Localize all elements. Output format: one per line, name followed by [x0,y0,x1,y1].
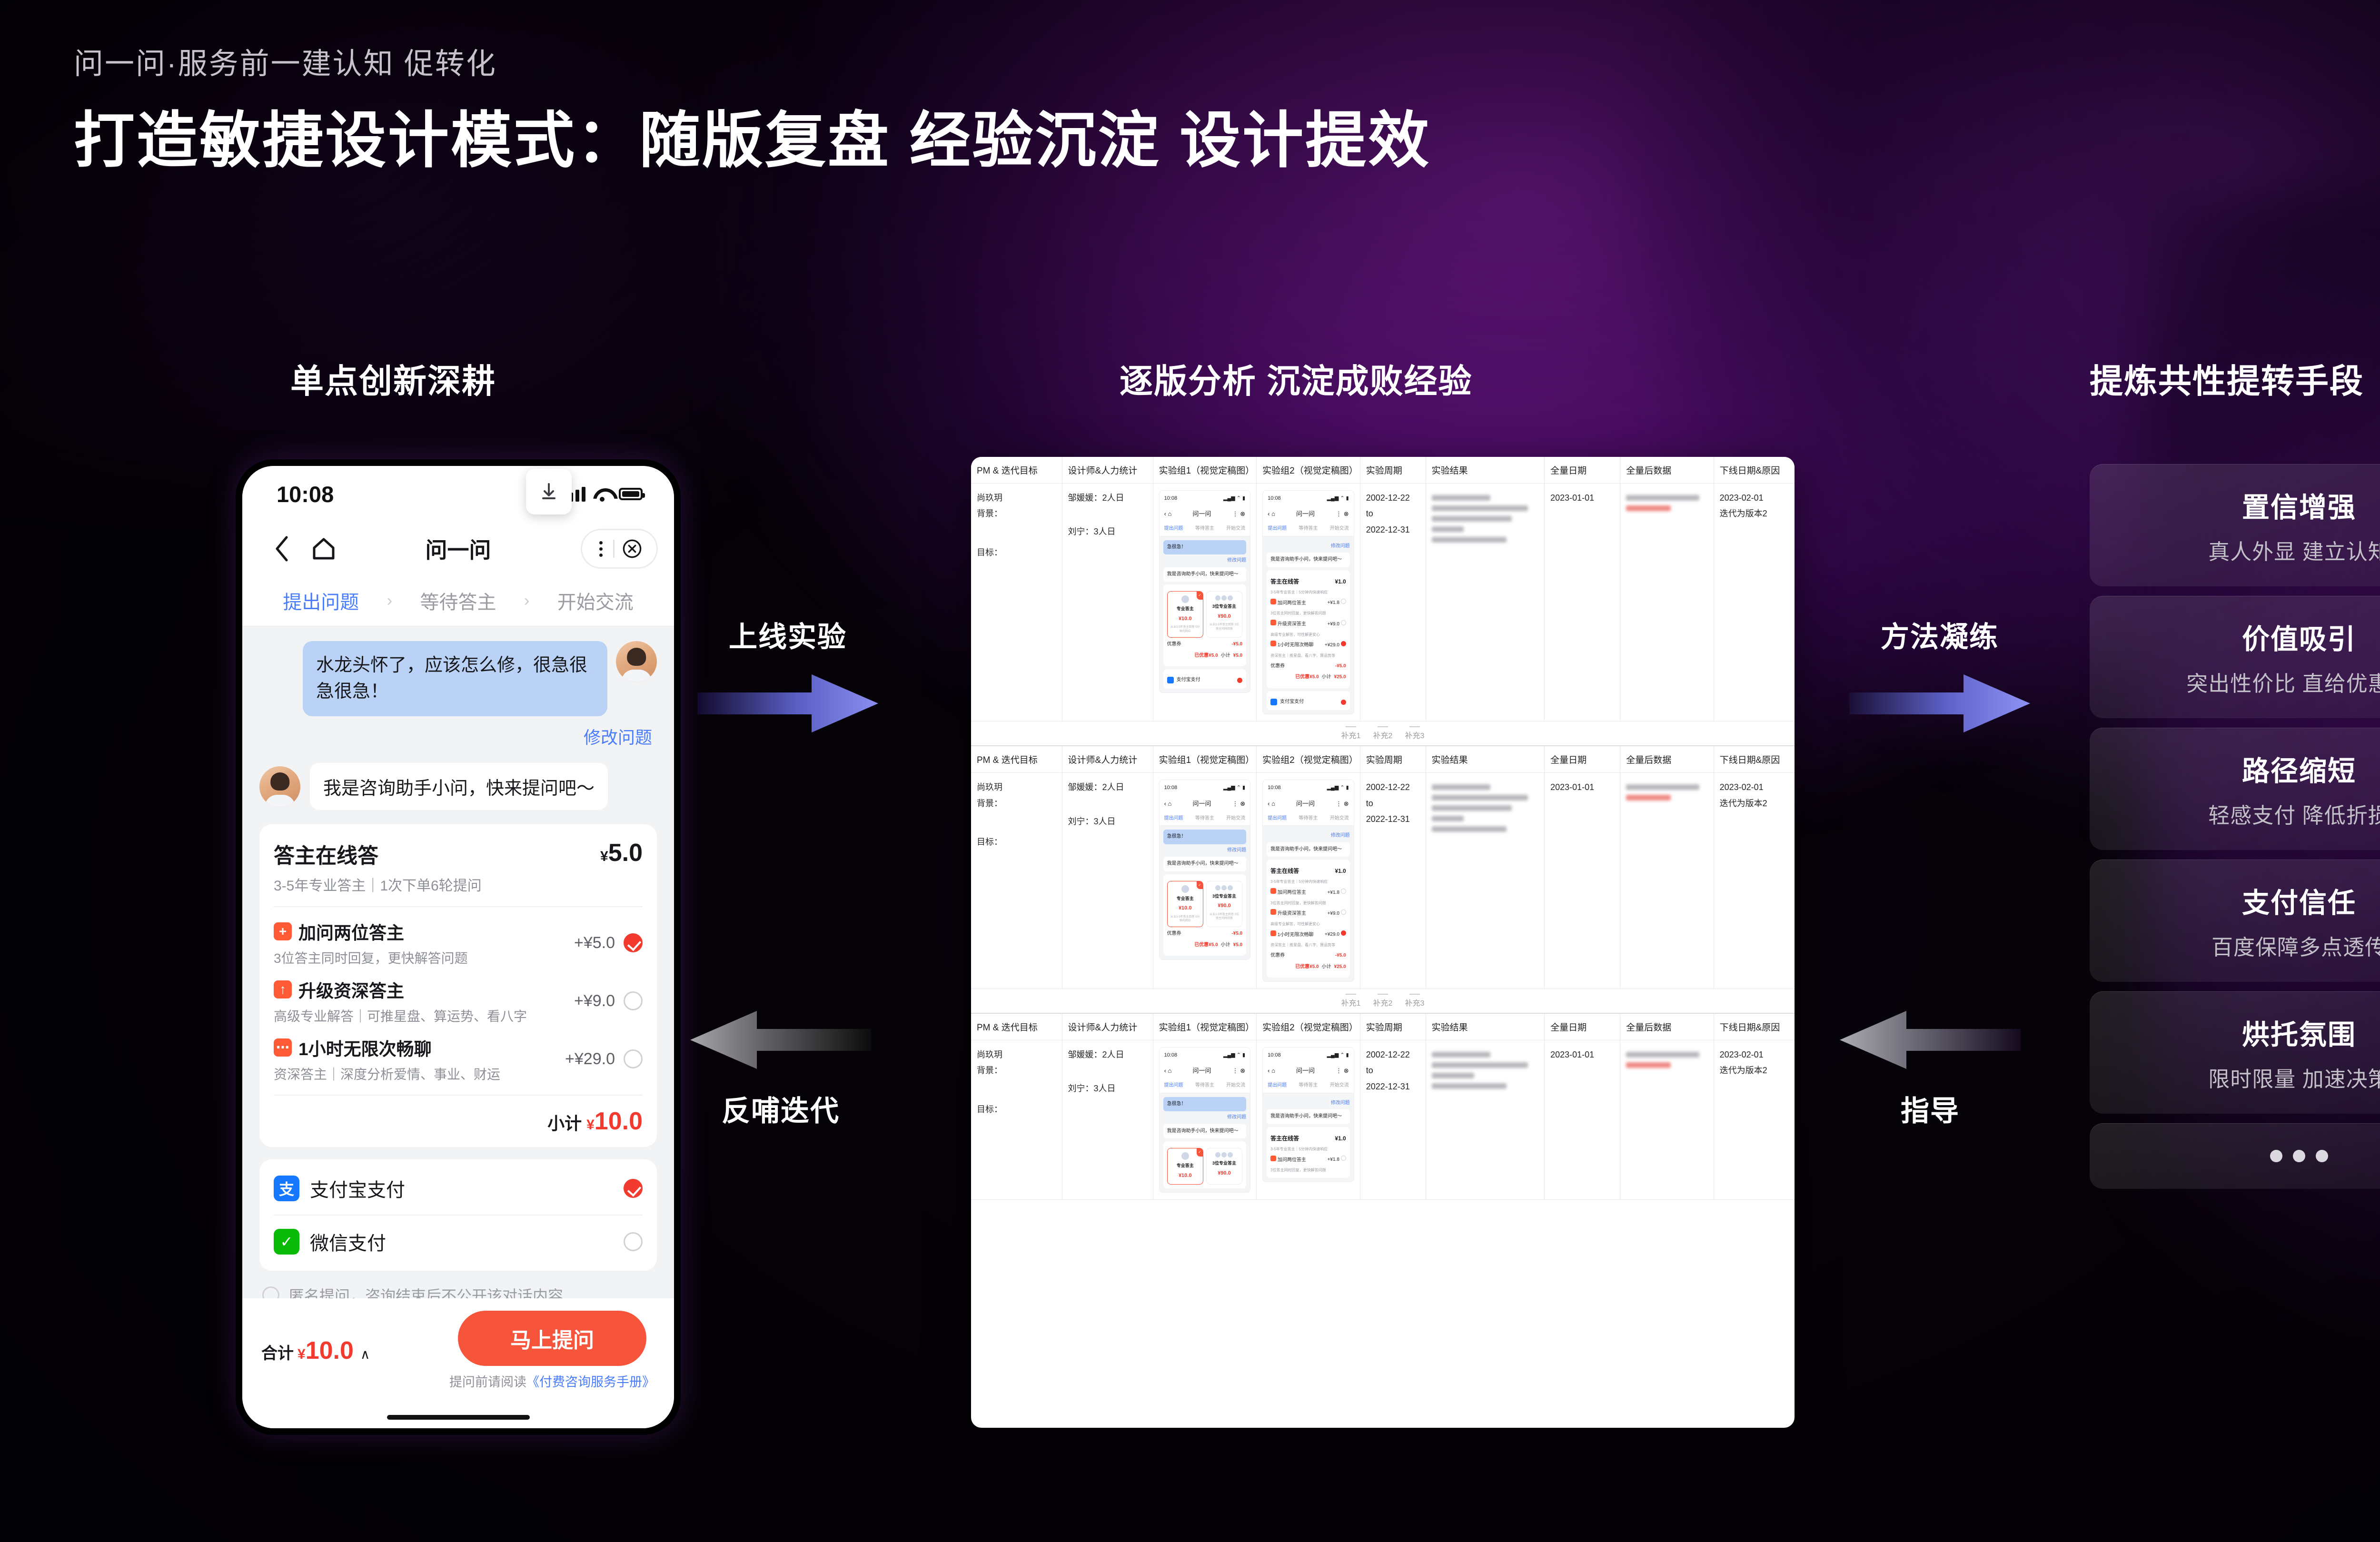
anonymous-label: 匿名提问，咨询结束后不公开该对话内容 [289,1284,563,1298]
mini-menu-icon: ⋮ ⊗ [1336,508,1349,520]
edit-question-link[interactable]: 修改问题 [584,724,652,749]
experiment-table-3: PM & 迭代目标 设计师&人力统计 实验组1（视觉定稿图） 实验组2（视觉定稿… [971,1013,1795,1200]
th-offline[interactable]: 下线日期&原因 [1714,457,1795,484]
period-start: 2002-12-22 [1366,1047,1420,1063]
arrow-feedback-iteration: 反哺迭代 [685,1004,876,1129]
supplement-label: 补充2 [1373,997,1393,1008]
wifi-icon [593,487,611,501]
anonymous-toggle[interactable]: 匿名提问，咨询结束后不公开该对话内容 [259,1271,657,1298]
supplement-item: 补充3 [1405,726,1424,741]
cell-period: 2002-12-22 to 2022-12-31 [1360,773,1426,989]
offline-reason: 迭代为版本2 [1720,1063,1789,1078]
offer-option[interactable]: ↑升级资深答主 高级专业解答｜可推星盘、算运势、看八字 +¥9.0 [274,977,643,1025]
divider [274,906,643,907]
supplement-item: 补充1 [1341,994,1361,1008]
pm-name: 尚玖玥 [977,1047,1056,1063]
method-cards-list: 置信增强 真人外显 建立认知 价值吸引 突出性价比 直给优惠感 路径缩短 轻感支… [2090,464,2380,1189]
assistant-avatar [259,766,300,807]
mini-opt-3-price: +¥29.0 [1325,932,1339,937]
arrow-right-icon [1844,668,2035,739]
option-radio[interactable] [624,991,643,1010]
chat-area: 水龙头怀了，应该怎么修，很急很急很急！ 修改问题 我是咨询助手小问，快来提问吧～… [242,627,674,1298]
cell-post-data [1620,484,1714,722]
cell-offline: 2023-02-01 迭代为版本2 [1714,484,1795,722]
mini-step-2: 等待答主 [1195,1081,1214,1090]
method-card-trust[interactable]: 置信增强 真人外显 建立认知 [2090,464,2380,586]
offer-option[interactable]: +加问两位答主 3位答主同时回复，更快解答问题 +¥5.0 [274,919,643,967]
method-card-atmosphere[interactable]: 烘托氛围 限时限量 加速决策 [2090,991,2380,1114]
period-end: 2022-12-31 [1366,522,1420,538]
mini-step-2: 等待答主 [1195,524,1214,534]
mini-opt-1: 加问两位答主 [1278,1157,1306,1163]
mini-step-3: 开始交流 [1226,1081,1245,1090]
cell-post-data [1620,1040,1714,1200]
th-period[interactable]: 实验周期 [1360,746,1426,773]
mini-edit-link: 修改问题 [1267,831,1350,840]
mini-subtotal-label: 小计 [1322,673,1331,682]
table-header-row: PM & 迭代目标 设计师&人力统计 实验组1（视觉定稿图） 实验组2（视觉定稿… [971,746,1795,773]
supplement-item: 补充1 [1341,726,1361,741]
mini-step-1: 提出问题 [1164,814,1183,823]
pm-name: 尚玖玥 [977,490,1056,506]
th-group2[interactable]: 实验组2（视觉定稿图） [1257,1013,1360,1040]
redacted-text [1432,537,1507,543]
option-subtitle: 高级专业解答｜可推星盘、算运势、看八字 [274,1006,527,1025]
redacted-text [1626,1062,1671,1068]
chat-badge-icon: ⋯ [274,1038,292,1057]
th-pm[interactable]: PM & 迭代目标 [971,1013,1062,1040]
mini-tile-name: 3位专业答主 [1209,603,1240,611]
mini-phone-group2: 10:08▂▄▆ ⌃ ▮ ‹ ⌂问一问⋮ ⊗ 提出问题等待答主开始交流 修改问题… [1262,490,1354,714]
option-title: 加问两位答主 [298,919,404,944]
mini-tile-three: 3位专业答主 ¥90.0 从业3-5年答主回答 3位答主同时回答 [1206,591,1242,638]
more-dots-icon[interactable] [592,541,610,557]
redacted-text [1432,1052,1490,1058]
payment-row-wechat[interactable]: ✓微信支付 [274,1215,643,1268]
designer-1: 邹媛媛：2人日 [1068,780,1147,795]
cell-offline: 2023-02-01 迭代为版本2 [1714,773,1795,989]
mini-phone-group2: 10:08▂▄▆ ⌃ ▮ ‹ ⌂问一问⋮ ⊗ 提出问题等待答主开始交流 修改问题… [1262,1047,1354,1182]
supplement-row: 补充1 补充2 补充3 [971,992,1795,1008]
th-postdata[interactable]: 全量后数据 [1620,457,1714,484]
pay-bar: 合计 ¥10.0 ∧ 马上提问 提问前请阅读《付费咨询服务手册》 [242,1298,674,1406]
cell-period: 2002-12-22 to 2022-12-31 [1360,484,1426,722]
th-pm[interactable]: PM & 迭代目标 [971,746,1062,773]
plus-badge-icon [1270,888,1276,894]
cell-period: 2002-12-22 to 2022-12-31 [1360,1040,1426,1200]
mini-opt-1: 加问两位答主 [1278,601,1306,606]
subtotal-value: 10.0 [595,1107,643,1135]
column-heading-middle: 逐版分析 沉淀成败经验 [1120,355,1472,403]
mini-tile-price: ¥90.0 [1209,1168,1240,1178]
mini-opt-2: 升级资深答主 [1278,622,1306,627]
mini-card-title: 答主在线答 [1270,866,1299,876]
mini-opt-1-sub: 3位答主同时回复，更快解答问题 [1270,1167,1346,1174]
mini-opt-1-price: +¥1.8 [1328,600,1339,605]
mini-user-bubble: 急很急！ [1163,830,1247,844]
mini-coupon-value: -¥5.0 [1231,640,1242,649]
arrow-right-icon [693,668,883,739]
mini-user-bubble: 急很急！ [1163,1097,1247,1112]
payment-methods: 支支付宝支付 ✓微信支付 [259,1159,657,1271]
mini-time: 10:08 [1164,783,1178,792]
mini-title: 问一问 [1296,1065,1315,1077]
option-price: +¥29.0 [565,1050,615,1068]
mini-menu-icon: ⋮ ⊗ [1336,798,1349,810]
anonymous-radio[interactable] [262,1286,279,1298]
offer-subtitle: 3-5年专业答主｜1次下单6轮提问 [274,874,482,895]
agreement-prefix: 提问前请阅读 [449,1375,526,1389]
slide-kicker: 问一问·服务前一建认知 促转化 [74,45,2168,84]
cell-designers: 邹媛媛：2人日 刘宁：3人日 [1062,1040,1153,1200]
cell-pm: 尚玖玥 背景： 目标： [971,1040,1062,1200]
total-value: 10.0 [306,1337,354,1364]
mini-opt-radio [1341,889,1346,894]
mini-step-3: 开始交流 [1226,524,1245,534]
mini-opt-radio [1341,599,1346,604]
mini-step-1: 提出问题 [1164,524,1183,534]
table-row: 尚玖玥 背景： 目标： 邹媛媛：2人日 刘宁：3人日 10:08▂▄▆ ⌃ ▮ … [971,484,1795,722]
redacted-text [1626,795,1671,801]
cell-designers: 邹媛媛：2人日 刘宁：3人日 [1062,773,1153,989]
redacted-text [1626,1052,1699,1058]
three-experts-icon [1209,885,1240,890]
total-label: 合计 [261,1340,294,1364]
th-group2[interactable]: 实验组2（视觉定稿图） [1257,746,1360,773]
pm-background: 背景： [977,506,1056,522]
mini-step-2: 等待答主 [1195,814,1214,823]
mini-opt-3-sub: 资深答主｜推星盘、看八字、算运势等 [1270,942,1346,949]
th-group2[interactable]: 实验组2（视觉定稿图） [1257,457,1360,484]
mini-tile-name: 专业答主 [1170,1162,1201,1170]
method-card-value[interactable]: 价值吸引 突出性价比 直给优惠感 [2090,596,2380,718]
redacted-text [1432,826,1507,832]
download-button[interactable] [526,469,572,514]
mini-status-icons: ▂▄▆ ⌃ ▮ [1223,1050,1245,1060]
th-period[interactable]: 实验周期 [1360,1013,1426,1040]
mini-used: 已优惠¥5.0 [1194,652,1218,661]
plus-badge-icon: + [274,922,292,940]
mini-opt-2-price: +¥9.0 [1328,622,1339,627]
supplement-label: 补充1 [1341,997,1361,1008]
mini-tile-name: 3位专业答主 [1209,1159,1240,1167]
method-card-payment-trust[interactable]: 支付信任 百度保障多点透传 [2090,860,2380,982]
method-card-title: 置信增强 [2104,485,2380,525]
period-start: 2002-12-22 [1366,780,1420,795]
th-result[interactable]: 实验结果 [1426,457,1544,484]
period-to: to [1366,1063,1420,1078]
mini-phone-group2: 10:08▂▄▆ ⌃ ▮ ‹ ⌂问一问⋮ ⊗ 提出问题等待答主开始交流 修改问题… [1262,780,1354,982]
redacted-text [1432,495,1490,501]
method-card-path[interactable]: 路径缩短 轻感支付 降低折损 [2090,728,2380,850]
offer-title: 答主在线答 [274,839,482,869]
mini-tile-three: 3位专业答主 ¥90.0 [1206,1148,1242,1185]
divider [613,540,615,558]
cell-group2-preview: 10:08▂▄▆ ⌃ ▮ ‹ ⌂问一问⋮ ⊗ 提出问题等待答主开始交流 修改问题… [1257,484,1360,722]
slide-header: 问一问·服务前一建认知 促转化 打造敏捷设计模式：随版复盘 经验沉淀 设计提效 [74,45,2168,179]
mini-card-price: ¥1.0 [1335,866,1346,876]
currency-symbol: ¥ [600,849,608,864]
mini-time: 10:08 [1164,494,1178,503]
mini-opt-2: 升级资深答主 [1278,911,1306,916]
designer-1: 邹媛媛：2人日 [1068,490,1147,506]
mini-opt-1-price: +¥1.8 [1328,1157,1339,1162]
mini-step-2: 等待答主 [1299,524,1318,534]
mini-pay-name: 支付宝支付 [1280,698,1304,707]
mini-menu-icon: ⋮ ⊗ [1232,798,1246,810]
method-card-sub: 轻感支付 降低折损 [2104,798,2380,829]
supplement-row: 补充1 补充2 补充3 [971,724,1795,741]
th-postdata[interactable]: 全量后数据 [1620,746,1714,773]
mini-back-icon: ‹ ⌂ [1268,798,1275,810]
mini-title: 问一问 [1192,798,1211,810]
supplement-label: 补充3 [1405,997,1424,1008]
plus-badge-icon [1270,599,1276,604]
th-result[interactable]: 实验结果 [1426,1013,1544,1040]
mini-tile-three: 3位专业答主 ¥90.0 从业3-5年答主回答 3位答主同时回答 [1206,881,1242,928]
mini-subtotal-label: 小计 [1322,963,1331,972]
mini-menu-icon: ⋮ ⊗ [1232,508,1246,520]
mini-card-title: 答主在线答 [1270,1133,1299,1144]
method-card-title: 烘托氛围 [2104,1012,2380,1052]
mini-opt-radio [1341,1156,1346,1161]
mini-edit-link: 修改问题 [1267,542,1350,551]
mini-subtotal-value: ¥25.0 [1334,673,1346,682]
cell-group1-preview: 10:08▂▄▆ ⌃ ▮ ‹ ⌂问一问⋮ ⊗ 提出问题等待答主开始交流 急很急！… [1153,1040,1257,1200]
mini-bot-bubble: 我是咨询助手小问，快来提问吧～ [1267,1109,1350,1124]
period-end: 2022-12-31 [1366,811,1420,827]
chevron-left-icon[interactable] [267,534,297,563]
mini-user-bubble: 急很急！ [1163,540,1247,555]
cell-pm: 尚玖玥 背景： 目标： [971,484,1062,722]
mini-opt-radio [1341,909,1346,915]
pm-goal: 目标： [977,1102,1056,1117]
th-designer[interactable]: 设计师&人力统计 [1062,1013,1153,1040]
mini-tile-name: 专业答主 [1170,895,1201,903]
mini-edit-link: 修改问题 [1267,1099,1350,1108]
mini-step-3: 开始交流 [1226,814,1245,823]
arrow-label: 反哺迭代 [722,1088,840,1129]
option-subtitle: 3位答主同时回复，更快解答问题 [274,948,468,967]
th-period[interactable]: 实验周期 [1360,457,1426,484]
mini-status-icons: ▂▄▆ ⌃ ▮ [1327,494,1349,503]
mini-edit-link: 修改问题 [1163,846,1247,855]
mini-bot-bubble: 我是咨询助手小问，快来提问吧～ [1267,842,1350,857]
option-subtitle: 资深答主｜深度分析爱情、事业、财运 [274,1064,500,1083]
mini-title: 问一问 [1296,798,1315,810]
table-header-row: PM & 迭代目标 设计师&人力统计 实验组1（视觉定稿图） 实验组2（视觉定稿… [971,457,1795,484]
arrow-label: 方法凝练 [1881,614,1999,655]
option-radio-selected[interactable] [624,933,643,952]
mini-tile-desc: 从业3-5年答主回答 3位答主同时回答 [1209,913,1240,921]
navbar-actions [581,529,658,569]
service-manual-link[interactable]: 《付费咨询服务手册》 [526,1375,655,1389]
close-circle-icon[interactable] [617,534,647,563]
th-launch[interactable]: 全量日期 [1545,746,1620,773]
offline-reason: 迭代为版本2 [1720,796,1789,811]
mini-opt-1-sub: 3位答主同时回复，更快解答问题 [1270,900,1346,907]
method-card-sub: 限时限量 加速决策 [2104,1062,2380,1093]
th-launch[interactable]: 全量日期 [1545,1013,1620,1040]
mini-pay-name: 支付宝支付 [1177,676,1200,685]
th-designer[interactable]: 设计师&人力统计 [1062,457,1153,484]
step-wait[interactable]: 等待答主 [420,587,496,614]
mini-tile-pro: 专业答主 ¥10.0 [1167,1148,1203,1185]
th-offline[interactable]: 下线日期&原因 [1714,746,1795,773]
pm-name: 尚玖玥 [977,780,1056,795]
currency-symbol: ¥ [297,1346,306,1362]
mini-phone-group1: 10:08▂▄▆ ⌃ ▮ ‹ ⌂问一问⋮ ⊗ 提出问题等待答主开始交流 急很急！… [1159,490,1251,693]
status-indicators [563,486,643,502]
mini-opt-3-sub: 资深答主｜推星盘、看八字、算运势等 [1270,652,1346,660]
home-icon[interactable] [309,534,338,563]
divider [274,1095,643,1096]
user-message-bubble: 水龙头怀了，应该怎么修，很急很急很急！ [303,641,607,716]
mini-tile-desc: 从业3-5年答主回答 5分钟内回应 [1170,915,1201,923]
mini-tile-price: ¥10.0 [1170,614,1201,623]
pm-background: 背景： [977,796,1056,811]
cell-pm: 尚玖玥 背景： 目标： [971,773,1062,989]
mini-title: 问一问 [1192,1065,1211,1077]
th-offline[interactable]: 下线日期&原因 [1714,1013,1795,1040]
mini-coupon-label: 优惠券 [1270,951,1285,960]
phone-status-bar: 10:08 [242,466,674,522]
mini-bot-bubble: 我是咨询助手小问，快来提问吧～ [1163,567,1247,582]
mini-subtotal-value: ¥5.0 [1233,652,1242,661]
mini-opt-2-price: +¥9.0 [1328,911,1339,916]
option-price: +¥9.0 [574,992,615,1010]
arrow-label: 指导 [1901,1088,1960,1129]
expert-avatar-icon [1181,1152,1189,1160]
offline-date: 2023-02-01 [1720,490,1789,506]
pm-goal: 目标： [977,545,1056,561]
th-pm[interactable]: PM & 迭代目标 [971,457,1062,484]
mini-subtotal-label: 小计 [1221,652,1230,661]
chevron-right-icon: › [524,592,529,610]
mini-step-1: 提出问题 [1164,1081,1183,1090]
cell-result [1426,773,1544,989]
ask-now-button[interactable]: 马上提问 [458,1311,646,1366]
payment-radio[interactable] [624,1232,643,1251]
method-card-more[interactable] [2090,1123,2380,1189]
arrow-left-icon [1835,1004,2025,1076]
battery-icon [619,488,643,500]
th-result[interactable]: 实验结果 [1426,746,1544,773]
cell-result [1426,1040,1544,1200]
download-icon [537,480,560,503]
th-designer[interactable]: 设计师&人力统计 [1062,746,1153,773]
cell-launch-date: 2023-01-01 [1545,773,1620,989]
expert-avatar-icon [1181,595,1189,603]
option-radio[interactable] [624,1049,643,1068]
redacted-text [1626,784,1699,790]
th-launch[interactable]: 全量日期 [1545,457,1620,484]
method-card-title: 路径缩短 [2104,749,2380,789]
mini-subtotal-label: 小计 [1221,941,1230,950]
mini-coupon-value: -¥5.0 [1231,929,1242,939]
chat-badge-icon [1270,930,1276,936]
mini-used: 已优惠¥5.0 [1295,673,1319,682]
mini-time: 10:08 [1268,1050,1281,1060]
experiment-table: PM & 迭代目标 设计师&人力统计 实验组1（视觉定稿图） 实验组2（视觉定稿… [971,457,1795,722]
mini-opt-2-sub: 高级专业解答，可性解更安心 [1270,632,1346,639]
experiment-table-panel[interactable]: PM & 迭代目标 设计师&人力统计 实验组1（视觉定稿图） 实验组2（视觉定稿… [971,457,1795,1428]
mini-card-title: 答主在线答 [1270,576,1299,587]
period-end: 2022-12-31 [1366,1079,1420,1095]
user-avatar [616,641,657,682]
supplement-item: 补充2 [1373,726,1393,741]
arrow-left-icon [685,1004,876,1076]
assistant-message-row: 我是咨询助手小问，快来提问吧～ [259,763,657,810]
mini-subtotal-value: ¥25.0 [1334,963,1346,972]
mini-used: 已优惠¥5.0 [1194,941,1218,950]
payment-radio-selected[interactable] [624,1179,643,1198]
mini-card-price: ¥1.0 [1335,576,1346,587]
status-time: 10:08 [277,481,334,507]
period-start: 2002-12-22 [1366,490,1420,506]
mini-card-price: ¥1.0 [1335,1133,1346,1144]
redacted-text [1432,816,1464,821]
upgrade-badge-icon [1270,909,1276,915]
th-group1[interactable]: 实验组1（视觉定稿图） [1153,457,1257,484]
mini-tile-desc: 从业3-5年答主回答 3位答主同时回答 [1209,623,1240,631]
payment-row-alipay[interactable]: 支支付宝支付 [274,1162,643,1215]
mini-card-sub: 3-5年专业答主｜5分钟内快速响应 [1270,879,1346,886]
mini-coupon-label: 优惠券 [1270,662,1285,671]
cell-offline: 2023-02-01 迭代为版本2 [1714,1040,1795,1200]
cell-group2-preview: 10:08▂▄▆ ⌃ ▮ ‹ ⌂问一问⋮ ⊗ 提出问题等待答主开始交流 修改问题… [1257,773,1360,989]
step-chat[interactable]: 开始交流 [557,587,634,614]
mini-title: 问一问 [1192,508,1211,520]
mini-step-1: 提出问题 [1268,1081,1287,1090]
offer-option[interactable]: ⋯1小时无限次畅聊 资深答主｜深度分析爱情、事业、财运 +¥29.0 [274,1035,643,1083]
mini-tile-desc: 从业3-5年答主回答 5分钟内回应 [1170,625,1201,633]
offer-subtotal: 小计 ¥10.0 [274,1107,643,1136]
supplement-label: 补充1 [1341,729,1361,741]
mini-coupon-value: -¥5.0 [1335,662,1346,671]
mini-status-icons: ▂▄▆ ⌃ ▮ [1223,494,1245,503]
mini-edit-link: 修改问题 [1163,1113,1247,1122]
mini-coupon-value: -¥5.0 [1335,951,1346,960]
mini-tile-price: ¥90.0 [1209,901,1240,910]
cell-post-data [1620,773,1714,989]
mini-card-sub: 3-5年专业答主｜5分钟内快速响应 [1270,1146,1346,1153]
th-group1[interactable]: 实验组1（视觉定稿图） [1153,746,1257,773]
mini-pay-radio [1341,700,1346,705]
th-group1[interactable]: 实验组1（视觉定稿图） [1153,1013,1257,1040]
home-indicator [242,1406,674,1428]
cell-launch-date: 2023-01-01 [1545,484,1620,722]
mini-tile-price: ¥10.0 [1170,1171,1201,1180]
mini-menu-icon: ⋮ ⊗ [1336,1065,1349,1077]
supplement-label: 补充2 [1373,729,1393,741]
total-area[interactable]: 合计 ¥10.0 ∧ [261,1336,370,1365]
th-postdata[interactable]: 全量后数据 [1620,1013,1714,1040]
mini-opt-radio-selected [1341,641,1346,646]
chevron-up-icon[interactable]: ∧ [360,1346,370,1362]
offer-price: ¥5.0 [600,839,643,867]
step-ask[interactable]: 提出问题 [283,587,359,614]
mini-step-1: 提出问题 [1268,524,1287,534]
mini-tile-name: 3位专业答主 [1209,892,1240,900]
mini-status-icons: ▂▄▆ ⌃ ▮ [1327,1050,1349,1060]
offer-price-value: 5.0 [608,839,643,867]
assistant-message-bubble: 我是咨询助手小问，快来提问吧～ [310,763,608,810]
cell-launch-date: 2023-01-01 [1545,1040,1620,1200]
phone-navbar: 问一问 [242,522,674,575]
offer-card: 答主在线答 3-5年专业答主｜1次下单6轮提问 ¥5.0 +加问两位答主 3位答… [259,824,657,1147]
mini-menu-icon: ⋮ ⊗ [1232,1065,1246,1077]
